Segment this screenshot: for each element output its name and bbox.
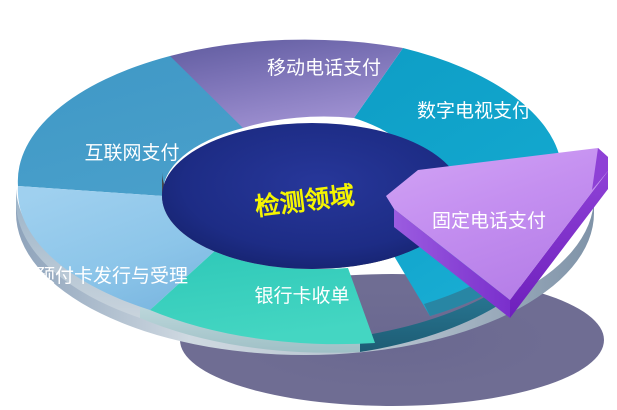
diagram-canvas: 移动电话支付 数字电视支付 固定电话支付 银行卡收单 预付卡发行与受理 互联网支… — [0, 0, 617, 410]
label-bank-card-acquiring: 银行卡收单 — [254, 285, 349, 307]
label-digital-tv-payment: 数字电视支付 — [417, 100, 531, 122]
exploded-donut-chart: 移动电话支付 数字电视支付 固定电话支付 银行卡收单 预付卡发行与受理 互联网支… — [0, 0, 617, 410]
label-prepaid-card: 预付卡发行与受理 — [36, 265, 188, 287]
label-fixed-phone-payment: 固定电话支付 — [432, 210, 546, 232]
label-mobile-phone-payment: 移动电话支付 — [267, 57, 381, 79]
label-internet-payment: 互联网支付 — [84, 142, 179, 164]
